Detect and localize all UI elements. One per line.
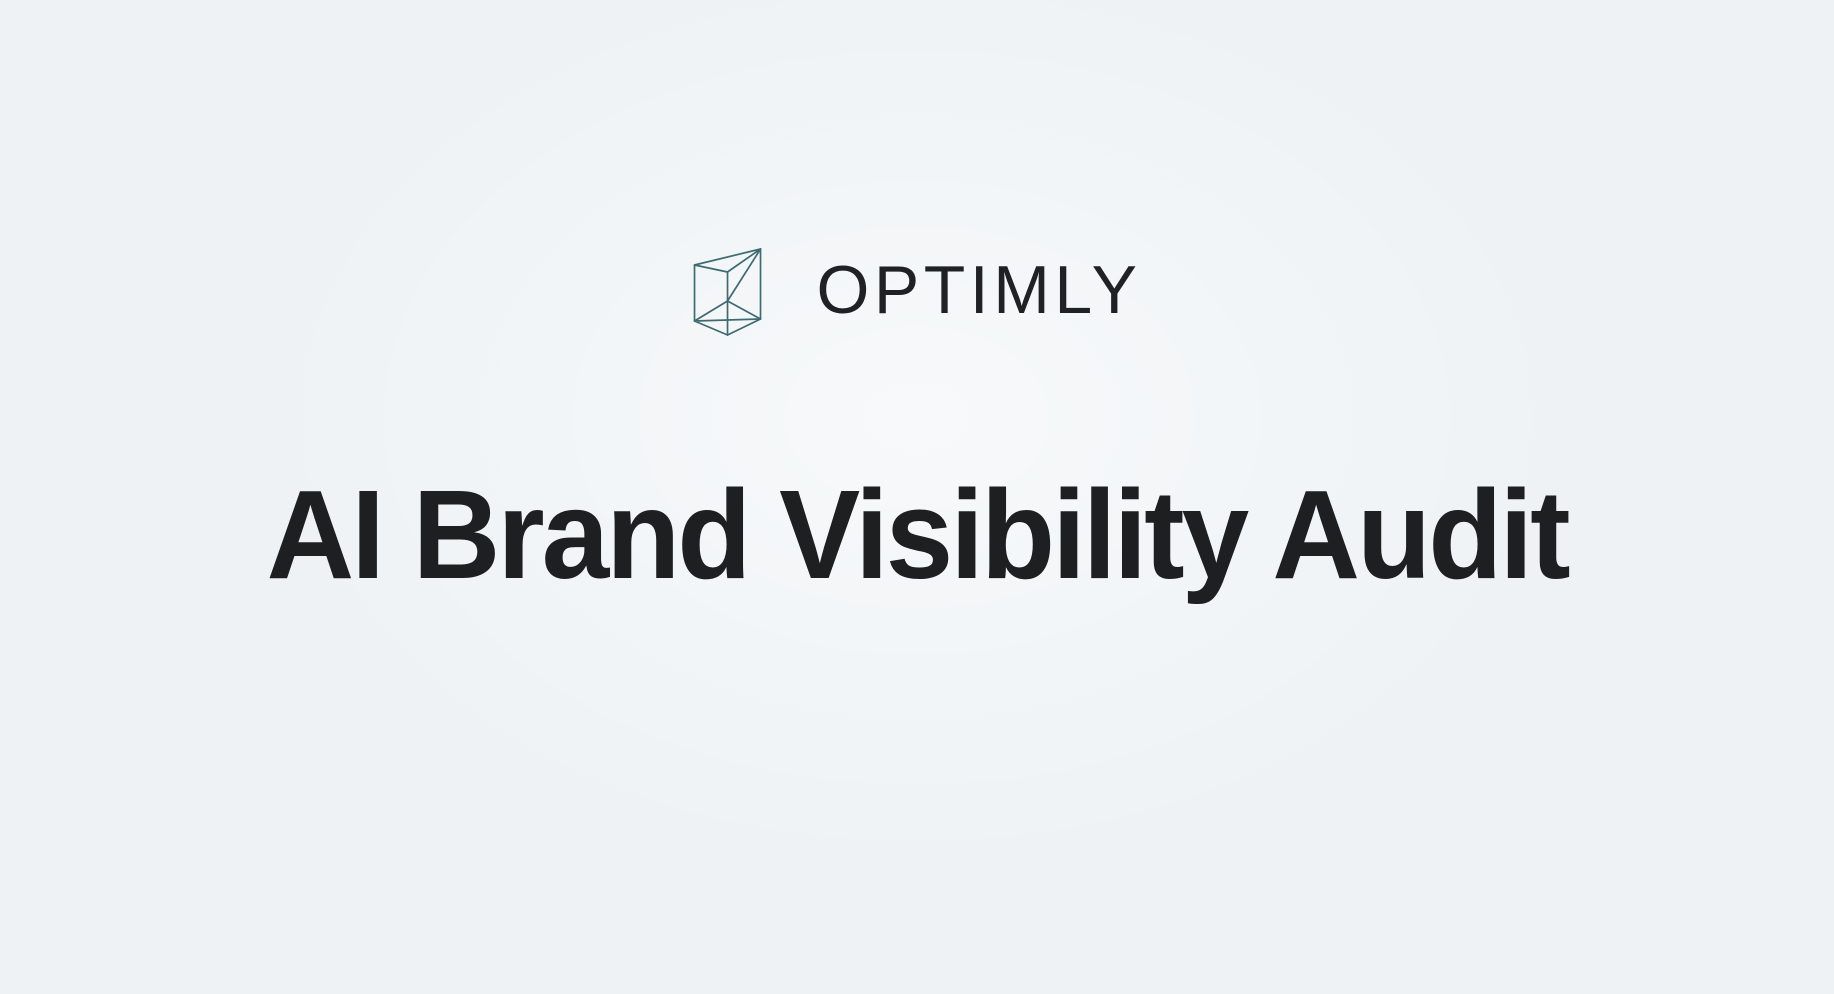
title-slide: OPTIMLY AI Brand Visibility Audit xyxy=(0,0,1834,994)
page-title: AI Brand Visibility Audit xyxy=(32,472,1802,598)
brand-logo-mark xyxy=(693,248,763,336)
triangular-prism-wireframe-icon xyxy=(693,248,763,336)
brand-lockup: OPTIMLY xyxy=(693,248,1142,336)
brand-wordmark: OPTIMLY xyxy=(817,256,1142,328)
